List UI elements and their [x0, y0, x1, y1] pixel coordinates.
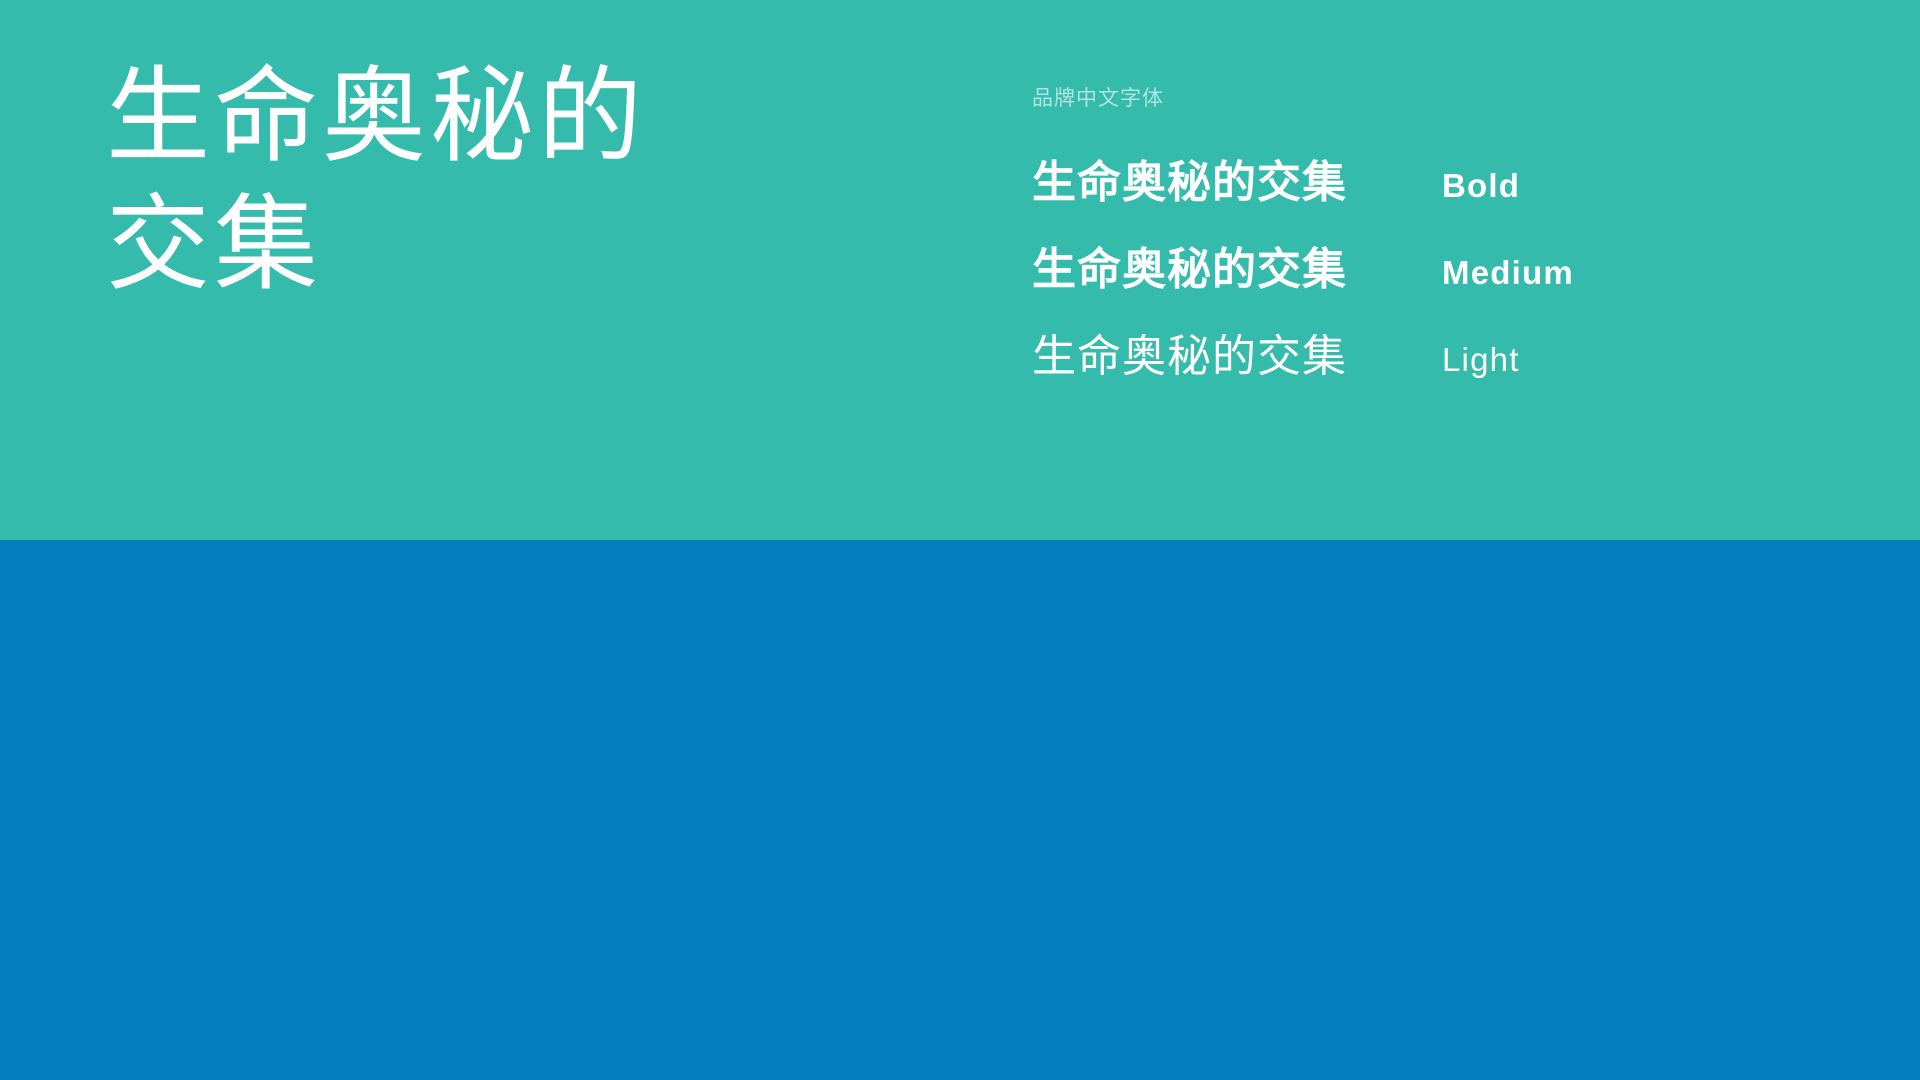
- english-font-section: Brand English Font Mysteries of life Bol…: [0, 540, 1920, 1080]
- chinese-sample-light: 生命奥秘的交集: [1032, 326, 1442, 388]
- chinese-specimen-list: 品牌中文字体 生命奥秘的交集 Bold 生命奥秘的交集 Medium 生命奥秘的…: [1032, 84, 1832, 391]
- chinese-sample-bold: 生命奥秘的交集: [1032, 152, 1442, 214]
- chinese-font-label: 品牌中文字体: [1032, 84, 1832, 112]
- chinese-specimen-row-bold: 生命奥秘的交集 Bold: [1032, 152, 1832, 217]
- chinese-weight-tag-bold: Bold: [1442, 155, 1520, 217]
- brand-typography-board: 生命奥秘的 交集 品牌中文字体 生命奥秘的交集 Bold 生命奥秘的交集 Med…: [0, 0, 1920, 1080]
- chinese-weight-tag-medium: Medium: [1442, 242, 1574, 304]
- chinese-font-section: 生命奥秘的 交集 品牌中文字体 生命奥秘的交集 Bold 生命奥秘的交集 Med…: [0, 0, 1920, 540]
- chinese-specimen-row-light: 生命奥秘的交集 Light: [1032, 326, 1832, 391]
- chinese-sample-medium: 生命奥秘的交集: [1032, 239, 1442, 301]
- chinese-weight-tag-light: Light: [1442, 329, 1520, 391]
- chinese-hero-headline: 生命奥秘的 交集: [106, 52, 726, 308]
- chinese-specimen-row-medium: 生命奥秘的交集 Medium: [1032, 239, 1832, 304]
